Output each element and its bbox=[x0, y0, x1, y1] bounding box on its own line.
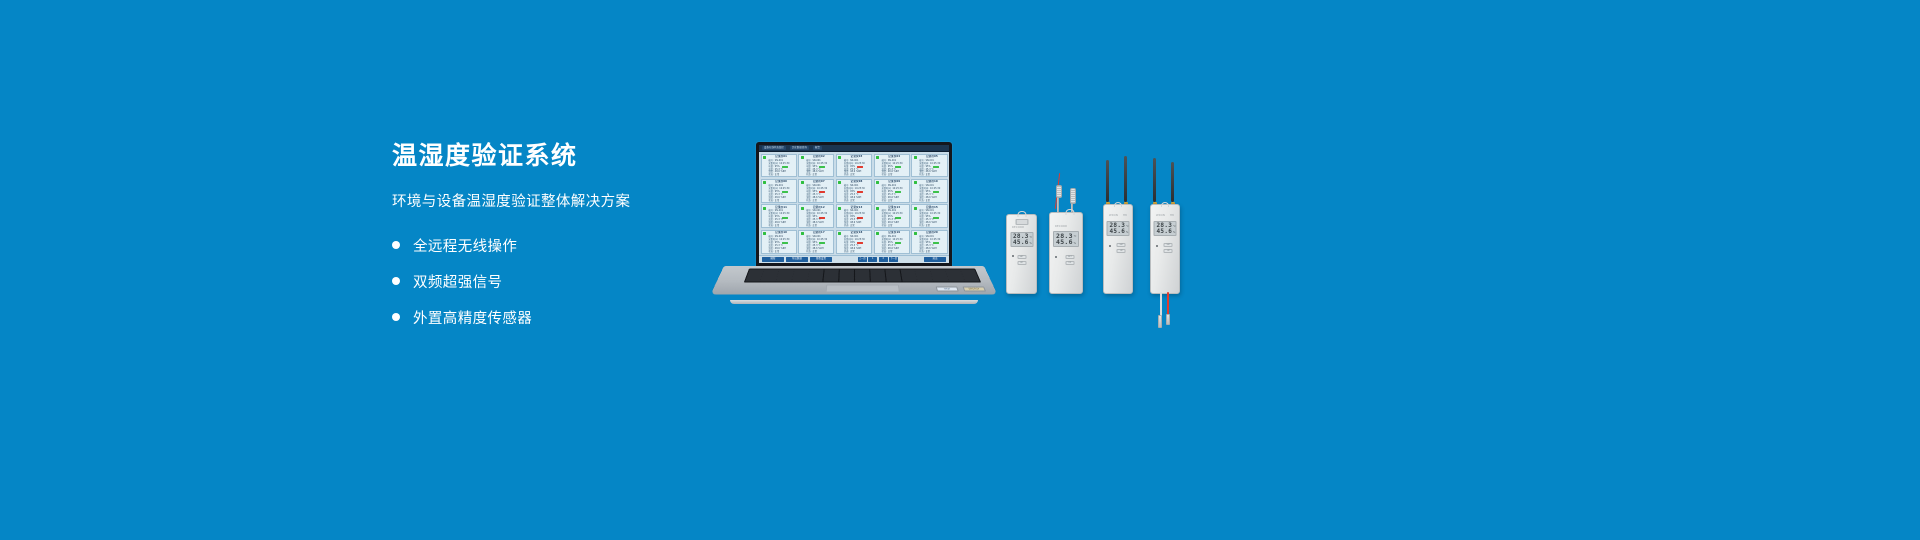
sensor-card-row-value: 正常 bbox=[926, 174, 930, 177]
status-dot-icon bbox=[763, 156, 766, 159]
sensor-card[interactable]: 记录仪02编号:SN-001采集时间:10:25:30电量:95%温度:25.3… bbox=[798, 154, 834, 178]
hanger-loop-icon bbox=[1114, 202, 1122, 207]
sensor-card-row-value: 10:25:30 bbox=[779, 213, 789, 216]
sensor-card-row-value: 正常 bbox=[888, 225, 892, 228]
device-button-pair: SET UP bbox=[1017, 255, 1026, 265]
device-body: WXON H8 28.3 ℃ 45.6 % SET UP bbox=[1103, 204, 1133, 294]
sensor-card-row: 状态:正常 bbox=[806, 225, 831, 228]
device-body: RECORD 28.3 ℃ 45.6 % SET UP bbox=[1006, 214, 1037, 294]
status-dot-icon bbox=[838, 207, 841, 210]
sensor-card-row-value: 正常 bbox=[888, 251, 892, 254]
sensor-card-row-value: 10:25:30 bbox=[930, 163, 940, 166]
sensor-card[interactable]: 记录仪19编号:SN-001采集时间:10:25:30电量:95%温度:25.3… bbox=[874, 230, 910, 254]
sensor-card-row-value: 10:25:30 bbox=[779, 188, 789, 191]
device-button-pair: SET UP bbox=[1065, 255, 1074, 265]
sensor-card-row: 状态:正常 bbox=[806, 174, 831, 177]
sensor-card-row-value: 正常 bbox=[926, 251, 930, 254]
feature-label: 全远程无线操作 bbox=[413, 235, 517, 256]
device-body: RECORD 28.3 ℃ 45.6 % SET UP bbox=[1049, 212, 1083, 294]
probe-cable-end bbox=[1158, 315, 1162, 328]
lcd-humidity-value: 45.6 bbox=[1157, 229, 1173, 235]
laptop-keyboard[interactable] bbox=[744, 269, 981, 283]
sensor-card[interactable]: 记录仪07编号:SN-001采集时间:10:25:30电量:95%温度:25.3… bbox=[798, 179, 834, 203]
sensor-card-row-value: 正常 bbox=[775, 251, 779, 254]
status-dot-icon bbox=[801, 207, 804, 210]
sensor-card-row: 状态:正常 bbox=[769, 174, 794, 177]
topbar-menu-item[interactable]: 历史数据查询 bbox=[790, 146, 809, 149]
antenna-right bbox=[1171, 162, 1174, 202]
keyboard-key[interactable] bbox=[823, 280, 838, 282]
sensor-card-row-label: 状态: bbox=[844, 200, 849, 203]
keyboard-key[interactable] bbox=[745, 280, 761, 282]
probe-tip-right bbox=[1070, 188, 1076, 204]
sensor-card-row-label: 状态: bbox=[919, 225, 924, 228]
sensor-card-row-value: 10:25:30 bbox=[779, 239, 789, 242]
status-dot-icon bbox=[838, 156, 841, 159]
sensor-card-row-value: 正常 bbox=[850, 225, 854, 228]
sensor-card-row-value: 10:25:30 bbox=[817, 213, 827, 216]
probe-cable-secondary bbox=[1167, 292, 1169, 316]
app-bottom-toolbar: 刷新 导出数据 参数设置 上一页 1 2 下一页 退出 bbox=[759, 255, 949, 263]
feature-label: 双频超强信号 bbox=[413, 271, 502, 292]
device-button-set[interactable]: SET bbox=[1065, 255, 1074, 259]
toolbar-button-refresh[interactable]: 刷新 bbox=[762, 257, 784, 261]
status-dot-icon bbox=[914, 207, 917, 210]
topbar-menu-item[interactable]: 设备在线状态监控 bbox=[762, 146, 786, 149]
sensor-card-row-label: 状态: bbox=[919, 251, 924, 254]
device-wireless-1: WXON H8 28.3 ℃ 45.6 % SET UP bbox=[1103, 204, 1133, 294]
laptop-base-front-edge bbox=[730, 300, 978, 304]
sensor-card-row: 状态:正常 bbox=[806, 251, 831, 254]
sensor-card[interactable]: 记录仪10编号:SN-001采集时间:10:25:30电量:95%温度:25.3… bbox=[911, 179, 947, 203]
laptop-base-surface: Intel ENERGY bbox=[711, 266, 998, 295]
sensor-card-row: 状态:正常 bbox=[919, 200, 944, 203]
status-dot-icon bbox=[876, 181, 879, 184]
lcd-humidity-unit: % bbox=[1074, 243, 1076, 245]
feature-list: 全远程无线操作 双频超强信号 外置高精度传感器 bbox=[392, 235, 722, 328]
sensor-card-row-label: 状态: bbox=[844, 174, 849, 177]
lcd-humidity-line: 45.6 % bbox=[1056, 239, 1076, 246]
device-button-up[interactable]: UP bbox=[1017, 261, 1026, 265]
laptop-lid: 设备在线状态监控 历史数据查询 报警 记录仪01编号:SN-001采集时间:10… bbox=[756, 142, 952, 272]
sensor-card-row-value: 正常 bbox=[926, 200, 930, 203]
sensor-card-row-label: 状态: bbox=[769, 200, 774, 203]
sensor-vent-icon bbox=[1015, 219, 1028, 225]
sensor-card-row: 状态:正常 bbox=[882, 225, 907, 228]
hanger-loop-icon bbox=[1161, 202, 1169, 207]
sensor-card-row-value: 10:25:30 bbox=[779, 163, 789, 166]
sensor-card-row-label: 状态: bbox=[806, 251, 811, 254]
keyboard-key[interactable] bbox=[760, 280, 776, 282]
page-title: 温湿度验证系统 bbox=[392, 142, 722, 170]
device-brand-row: WXON H8 bbox=[1156, 214, 1174, 217]
sensor-card[interactable]: 记录仪06编号:SN-001采集时间:10:25:30电量:95%温度:25.3… bbox=[761, 179, 797, 203]
sensor-card-row-label: 状态: bbox=[844, 225, 849, 228]
device-status-led-icon bbox=[1012, 255, 1014, 257]
keyboard-key[interactable] bbox=[964, 280, 980, 282]
sensor-card-row-value: 10:25:30 bbox=[855, 213, 865, 216]
sensor-card-row-label: 状态: bbox=[769, 225, 774, 228]
sensor-card-row-value: 10:25:30 bbox=[817, 163, 827, 166]
bullet-dot-icon bbox=[392, 277, 400, 285]
toolbar-button-settings[interactable]: 参数设置 bbox=[810, 257, 832, 261]
sensor-card-row: 状态:正常 bbox=[882, 200, 907, 203]
sensor-card-row-value: 正常 bbox=[812, 225, 816, 228]
keyboard-key[interactable] bbox=[902, 280, 917, 282]
sensor-card-row-label: 状态: bbox=[882, 251, 887, 254]
status-dot-icon bbox=[876, 232, 879, 235]
device-button-up[interactable]: UP bbox=[1164, 249, 1173, 253]
sensor-card-row-label: 状态: bbox=[806, 174, 811, 177]
sensor-card-row-value: 正常 bbox=[812, 251, 816, 254]
sensor-card-row-value: 正常 bbox=[888, 174, 892, 177]
sensor-card-row-label: 状态: bbox=[769, 174, 774, 177]
sensor-card-row: 状态:正常 bbox=[919, 174, 944, 177]
sensor-card-row: 状态:正常 bbox=[769, 200, 794, 203]
sensor-devices-group: RECORD 28.3 ℃ 45.6 % SET UP bbox=[1000, 180, 1220, 330]
device-status-led-icon bbox=[1156, 245, 1158, 247]
device-button-set[interactable]: SET bbox=[1017, 255, 1026, 259]
device-logger-2: RECORD 28.3 ℃ 45.6 % SET UP bbox=[1049, 212, 1083, 294]
sensor-card-row: 状态:正常 bbox=[769, 251, 794, 254]
device-brand-left: RECORD bbox=[1055, 225, 1067, 228]
device-lcd-display: 28.3 ℃ 45.6 % bbox=[1107, 221, 1130, 236]
sensor-card-row: 状态:正常 bbox=[769, 225, 794, 228]
copy-block: 温湿度验证系统 环境与设备温湿度验证整体解决方案 全远程无线操作 双频超强信号 … bbox=[392, 142, 722, 343]
lcd-humidity-line: 45.6 % bbox=[1110, 229, 1127, 235]
sensor-card-row: 状态:正常 bbox=[882, 174, 907, 177]
device-brand-row: WXON H8 bbox=[1109, 214, 1127, 217]
sensor-card[interactable]: 记录仪04编号:SN-001采集时间:10:25:30电量:95%温度:25.3… bbox=[874, 154, 910, 178]
laptop-base: Intel ENERGY bbox=[716, 266, 992, 302]
device-brand-left: WXON bbox=[1156, 214, 1165, 217]
sensor-card-row-value: 10:25:30 bbox=[892, 213, 902, 216]
lcd-humidity-line: 45.6 % bbox=[1013, 240, 1030, 246]
sensor-card-row-label: 状态: bbox=[882, 174, 887, 177]
page-number-button[interactable]: 2 bbox=[879, 257, 888, 261]
antenna-left bbox=[1106, 160, 1109, 202]
sensor-card[interactable]: 记录仪05编号:SN-001采集时间:10:25:30电量:95%温度:25.3… bbox=[911, 154, 947, 178]
sensor-card-row: 状态:正常 bbox=[844, 200, 869, 203]
sensor-card[interactable]: 记录仪18编号:SN-001采集时间:10:25:30电量:95%温度:25.3… bbox=[836, 230, 872, 254]
sensor-card[interactable]: 记录仪20编号:SN-001采集时间:10:25:30电量:95%温度:25.3… bbox=[911, 230, 947, 254]
sensor-card-row-value: 正常 bbox=[775, 200, 779, 203]
sensor-card-row-value: 正常 bbox=[775, 225, 779, 228]
status-dot-icon bbox=[838, 181, 841, 184]
laptop-product-image: 设备在线状态监控 历史数据查询 报警 记录仪01编号:SN-001采集时间:10… bbox=[716, 142, 992, 302]
laptop-trackpad[interactable] bbox=[826, 284, 901, 292]
laptop-screen: 设备在线状态监控 历史数据查询 报警 记录仪01编号:SN-001采集时间:10… bbox=[759, 145, 949, 263]
status-dot-icon bbox=[801, 156, 804, 159]
sensor-card[interactable]: 记录仪16编号:SN-001采集时间:10:25:30电量:95%温度:25.3… bbox=[761, 230, 797, 254]
sensor-card[interactable]: 记录仪14编号:SN-001采集时间:10:25:30电量:95%温度:25.3… bbox=[874, 204, 910, 228]
sensor-card-row-value: 正常 bbox=[850, 251, 854, 254]
device-status-led-icon bbox=[1055, 256, 1057, 258]
sensor-card-row: 状态:正常 bbox=[844, 251, 869, 254]
sensor-card-row-value: 10:25:30 bbox=[817, 239, 827, 242]
status-dot-icon bbox=[763, 181, 766, 184]
sensor-card-row: 状态:正常 bbox=[844, 225, 869, 228]
sensor-card-row-value: 10:25:30 bbox=[930, 188, 940, 191]
sensor-card-row-value: 正常 bbox=[926, 225, 930, 228]
lcd-humidity-value: 45.6 bbox=[1110, 229, 1126, 235]
sensor-card-row-label: 状态: bbox=[769, 251, 774, 254]
sensor-card-row-value: 正常 bbox=[850, 200, 854, 203]
device-lcd-display: 28.3 ℃ 45.6 % bbox=[1154, 221, 1177, 236]
keyboard-key[interactable] bbox=[886, 280, 901, 282]
status-dot-icon bbox=[876, 156, 879, 159]
dashboard-grid-area: 记录仪01编号:SN-001采集时间:10:25:30电量:95%温度:25.3… bbox=[759, 152, 949, 255]
sensor-card-row-value: 10:25:30 bbox=[855, 239, 865, 242]
sensor-card-row: 状态:正常 bbox=[806, 200, 831, 203]
bullet-dot-icon bbox=[392, 241, 400, 249]
status-dot-icon bbox=[914, 181, 917, 184]
device-button-up[interactable]: UP bbox=[1065, 261, 1074, 265]
sensor-card[interactable]: 记录仪08编号:SN-001采集时间:10:25:30电量:95%温度:25.3… bbox=[836, 179, 872, 203]
device-brand-left: RECORD bbox=[1012, 226, 1024, 229]
sensor-card-row: 状态:正常 bbox=[844, 174, 869, 177]
status-dot-icon bbox=[763, 207, 766, 210]
sensor-card-row-label: 状态: bbox=[919, 174, 924, 177]
list-item: 外置高精度传感器 bbox=[392, 307, 722, 328]
sensor-card[interactable]: 记录仪11编号:SN-001采集时间:10:25:30电量:95%温度:25.3… bbox=[761, 204, 797, 228]
sensor-card-row: 状态:正常 bbox=[919, 251, 944, 254]
hanger-loop-icon bbox=[1017, 211, 1026, 217]
sensor-card[interactable]: 记录仪13编号:SN-001采集时间:10:25:30电量:95%温度:25.3… bbox=[836, 204, 872, 228]
device-button-set[interactable]: SET bbox=[1164, 243, 1173, 247]
antenna-right bbox=[1124, 156, 1127, 202]
keyboard-row bbox=[745, 280, 981, 282]
page-number-button[interactable]: 1 bbox=[868, 257, 877, 261]
sensor-card-row-label: 状态: bbox=[882, 200, 887, 203]
device-brand-row: RECORD bbox=[1012, 226, 1031, 229]
laptop-sticker-energy: ENERGY bbox=[962, 286, 986, 291]
status-dot-icon bbox=[914, 232, 917, 235]
page-subtitle: 环境与设备温湿度验证整体解决方案 bbox=[392, 190, 722, 211]
sensor-card[interactable]: 记录仪03编号:SN-001采集时间:10:25:30电量:95%温度:25.3… bbox=[836, 154, 872, 178]
probe-cable-end-secondary bbox=[1166, 314, 1170, 325]
list-item: 双频超强信号 bbox=[392, 271, 722, 292]
toolbar-button-export[interactable]: 导出数据 bbox=[786, 257, 808, 261]
page-next-button[interactable]: 下一页 bbox=[889, 257, 898, 261]
device-brand-right: H8 bbox=[1123, 214, 1127, 217]
sensor-card-row-value: 10:25:30 bbox=[892, 188, 902, 191]
device-button-pair: SET UP bbox=[1164, 243, 1173, 253]
hanger-loop-icon bbox=[1065, 209, 1074, 215]
keyboard-key[interactable] bbox=[933, 280, 949, 282]
status-dot-icon bbox=[763, 232, 766, 235]
device-button-pair: SET UP bbox=[1117, 243, 1126, 253]
device-lcd-display: 28.3 ℃ 45.6 % bbox=[1053, 231, 1079, 247]
device-brand-left: WXON bbox=[1109, 214, 1118, 217]
sensor-card-row-value: 正常 bbox=[888, 200, 892, 203]
sensor-card-row-value: 10:25:30 bbox=[930, 213, 940, 216]
sensor-card-row-label: 状态: bbox=[806, 225, 811, 228]
sensor-card-row-label: 状态: bbox=[844, 251, 849, 254]
device-logger-1: RECORD 28.3 ℃ 45.6 % SET UP bbox=[1006, 214, 1037, 294]
lcd-humidity-value: 45.6 bbox=[1013, 240, 1029, 246]
promo-banner: 温湿度验证系统 环境与设备温湿度验证整体解决方案 全远程无线操作 双频超强信号 … bbox=[0, 0, 1920, 540]
lcd-humidity-line: 45.6 % bbox=[1157, 229, 1174, 235]
bullet-dot-icon bbox=[392, 313, 400, 321]
device-button-set[interactable]: SET bbox=[1117, 243, 1126, 247]
status-dot-icon bbox=[876, 207, 879, 210]
sensor-card-row-label: 状态: bbox=[806, 200, 811, 203]
sensor-card-row-value: 正常 bbox=[775, 174, 779, 177]
device-button-up[interactable]: UP bbox=[1117, 249, 1126, 253]
sensor-card-row: 状态:正常 bbox=[882, 251, 907, 254]
sensor-card-row-value: 10:25:30 bbox=[817, 188, 827, 191]
sensor-card[interactable]: 记录仪12编号:SN-001采集时间:10:25:30电量:95%温度:25.3… bbox=[798, 204, 834, 228]
sensor-card-row-value: 10:25:30 bbox=[855, 163, 865, 166]
sensor-card-grid: 记录仪01编号:SN-001采集时间:10:25:30电量:95%温度:25.3… bbox=[761, 154, 948, 254]
device-body: WXON H8 28.3 ℃ 45.6 % SET UP bbox=[1150, 204, 1180, 294]
device-brand-row: RECORD bbox=[1055, 225, 1077, 228]
keyboard-key[interactable] bbox=[917, 280, 933, 282]
sensor-card-row-label: 状态: bbox=[919, 200, 924, 203]
status-dot-icon bbox=[838, 232, 841, 235]
pagination: 上一页 1 2 下一页 bbox=[858, 257, 899, 261]
app-topbar: 设备在线状态监控 历史数据查询 报警 bbox=[759, 145, 949, 152]
toolbar-button-exit[interactable]: 退出 bbox=[924, 257, 946, 261]
feature-label: 外置高精度传感器 bbox=[413, 307, 532, 328]
keyboard-key[interactable] bbox=[776, 280, 792, 282]
probe-tip-left bbox=[1056, 185, 1062, 198]
sensor-card[interactable]: 记录仪17编号:SN-001采集时间:10:25:30电量:95%温度:25.3… bbox=[798, 230, 834, 254]
status-dot-icon bbox=[914, 156, 917, 159]
status-dot-icon bbox=[801, 232, 804, 235]
sensor-card-row-value: 正常 bbox=[812, 200, 816, 203]
laptop-sticker-intel: Intel bbox=[936, 286, 959, 291]
sensor-card-row-value: 10:25:30 bbox=[892, 163, 902, 166]
device-brand-right: H8 bbox=[1170, 214, 1174, 217]
antenna-left bbox=[1153, 158, 1156, 202]
sensor-card-row-value: 正常 bbox=[850, 174, 854, 177]
status-dot-icon bbox=[801, 181, 804, 184]
keyboard-key[interactable] bbox=[949, 280, 965, 282]
device-wireless-2: WXON H8 28.3 ℃ 45.6 % SET UP bbox=[1150, 204, 1180, 294]
sensor-card-row-value: 正常 bbox=[812, 174, 816, 177]
device-lcd-display: 28.3 ℃ 45.6 % bbox=[1010, 232, 1033, 247]
keyboard-key[interactable] bbox=[871, 280, 886, 282]
sensor-card-row-value: 10:25:30 bbox=[892, 239, 902, 242]
lcd-humidity-unit: % bbox=[1126, 232, 1128, 234]
sensor-card-row-label: 状态: bbox=[882, 225, 887, 228]
sensor-card[interactable]: 记录仪09编号:SN-001采集时间:10:25:30电量:95%温度:25.3… bbox=[874, 179, 910, 203]
keyboard-key[interactable] bbox=[839, 280, 854, 282]
page-prev-button[interactable]: 上一页 bbox=[858, 257, 867, 261]
sensor-card[interactable]: 记录仪15编号:SN-001采集时间:10:25:30电量:95%温度:25.3… bbox=[911, 204, 947, 228]
topbar-menu-item[interactable]: 报警 bbox=[813, 146, 822, 149]
keyboard-key[interactable] bbox=[808, 280, 823, 282]
lcd-humidity-value: 45.6 bbox=[1056, 239, 1073, 246]
keyboard-key[interactable] bbox=[855, 280, 870, 282]
sensor-card-row-value: 10:25:30 bbox=[930, 239, 940, 242]
keyboard-key[interactable] bbox=[792, 280, 807, 282]
sensor-card-row: 状态:正常 bbox=[919, 225, 944, 228]
sensor-card[interactable]: 记录仪01编号:SN-001采集时间:10:25:30电量:95%温度:25.3… bbox=[761, 154, 797, 178]
lcd-humidity-unit: % bbox=[1173, 232, 1175, 234]
list-item: 全远程无线操作 bbox=[392, 235, 722, 256]
device-status-led-icon bbox=[1109, 245, 1111, 247]
lcd-humidity-unit: % bbox=[1029, 243, 1031, 245]
sensor-card-row-value: 10:25:30 bbox=[855, 188, 865, 191]
